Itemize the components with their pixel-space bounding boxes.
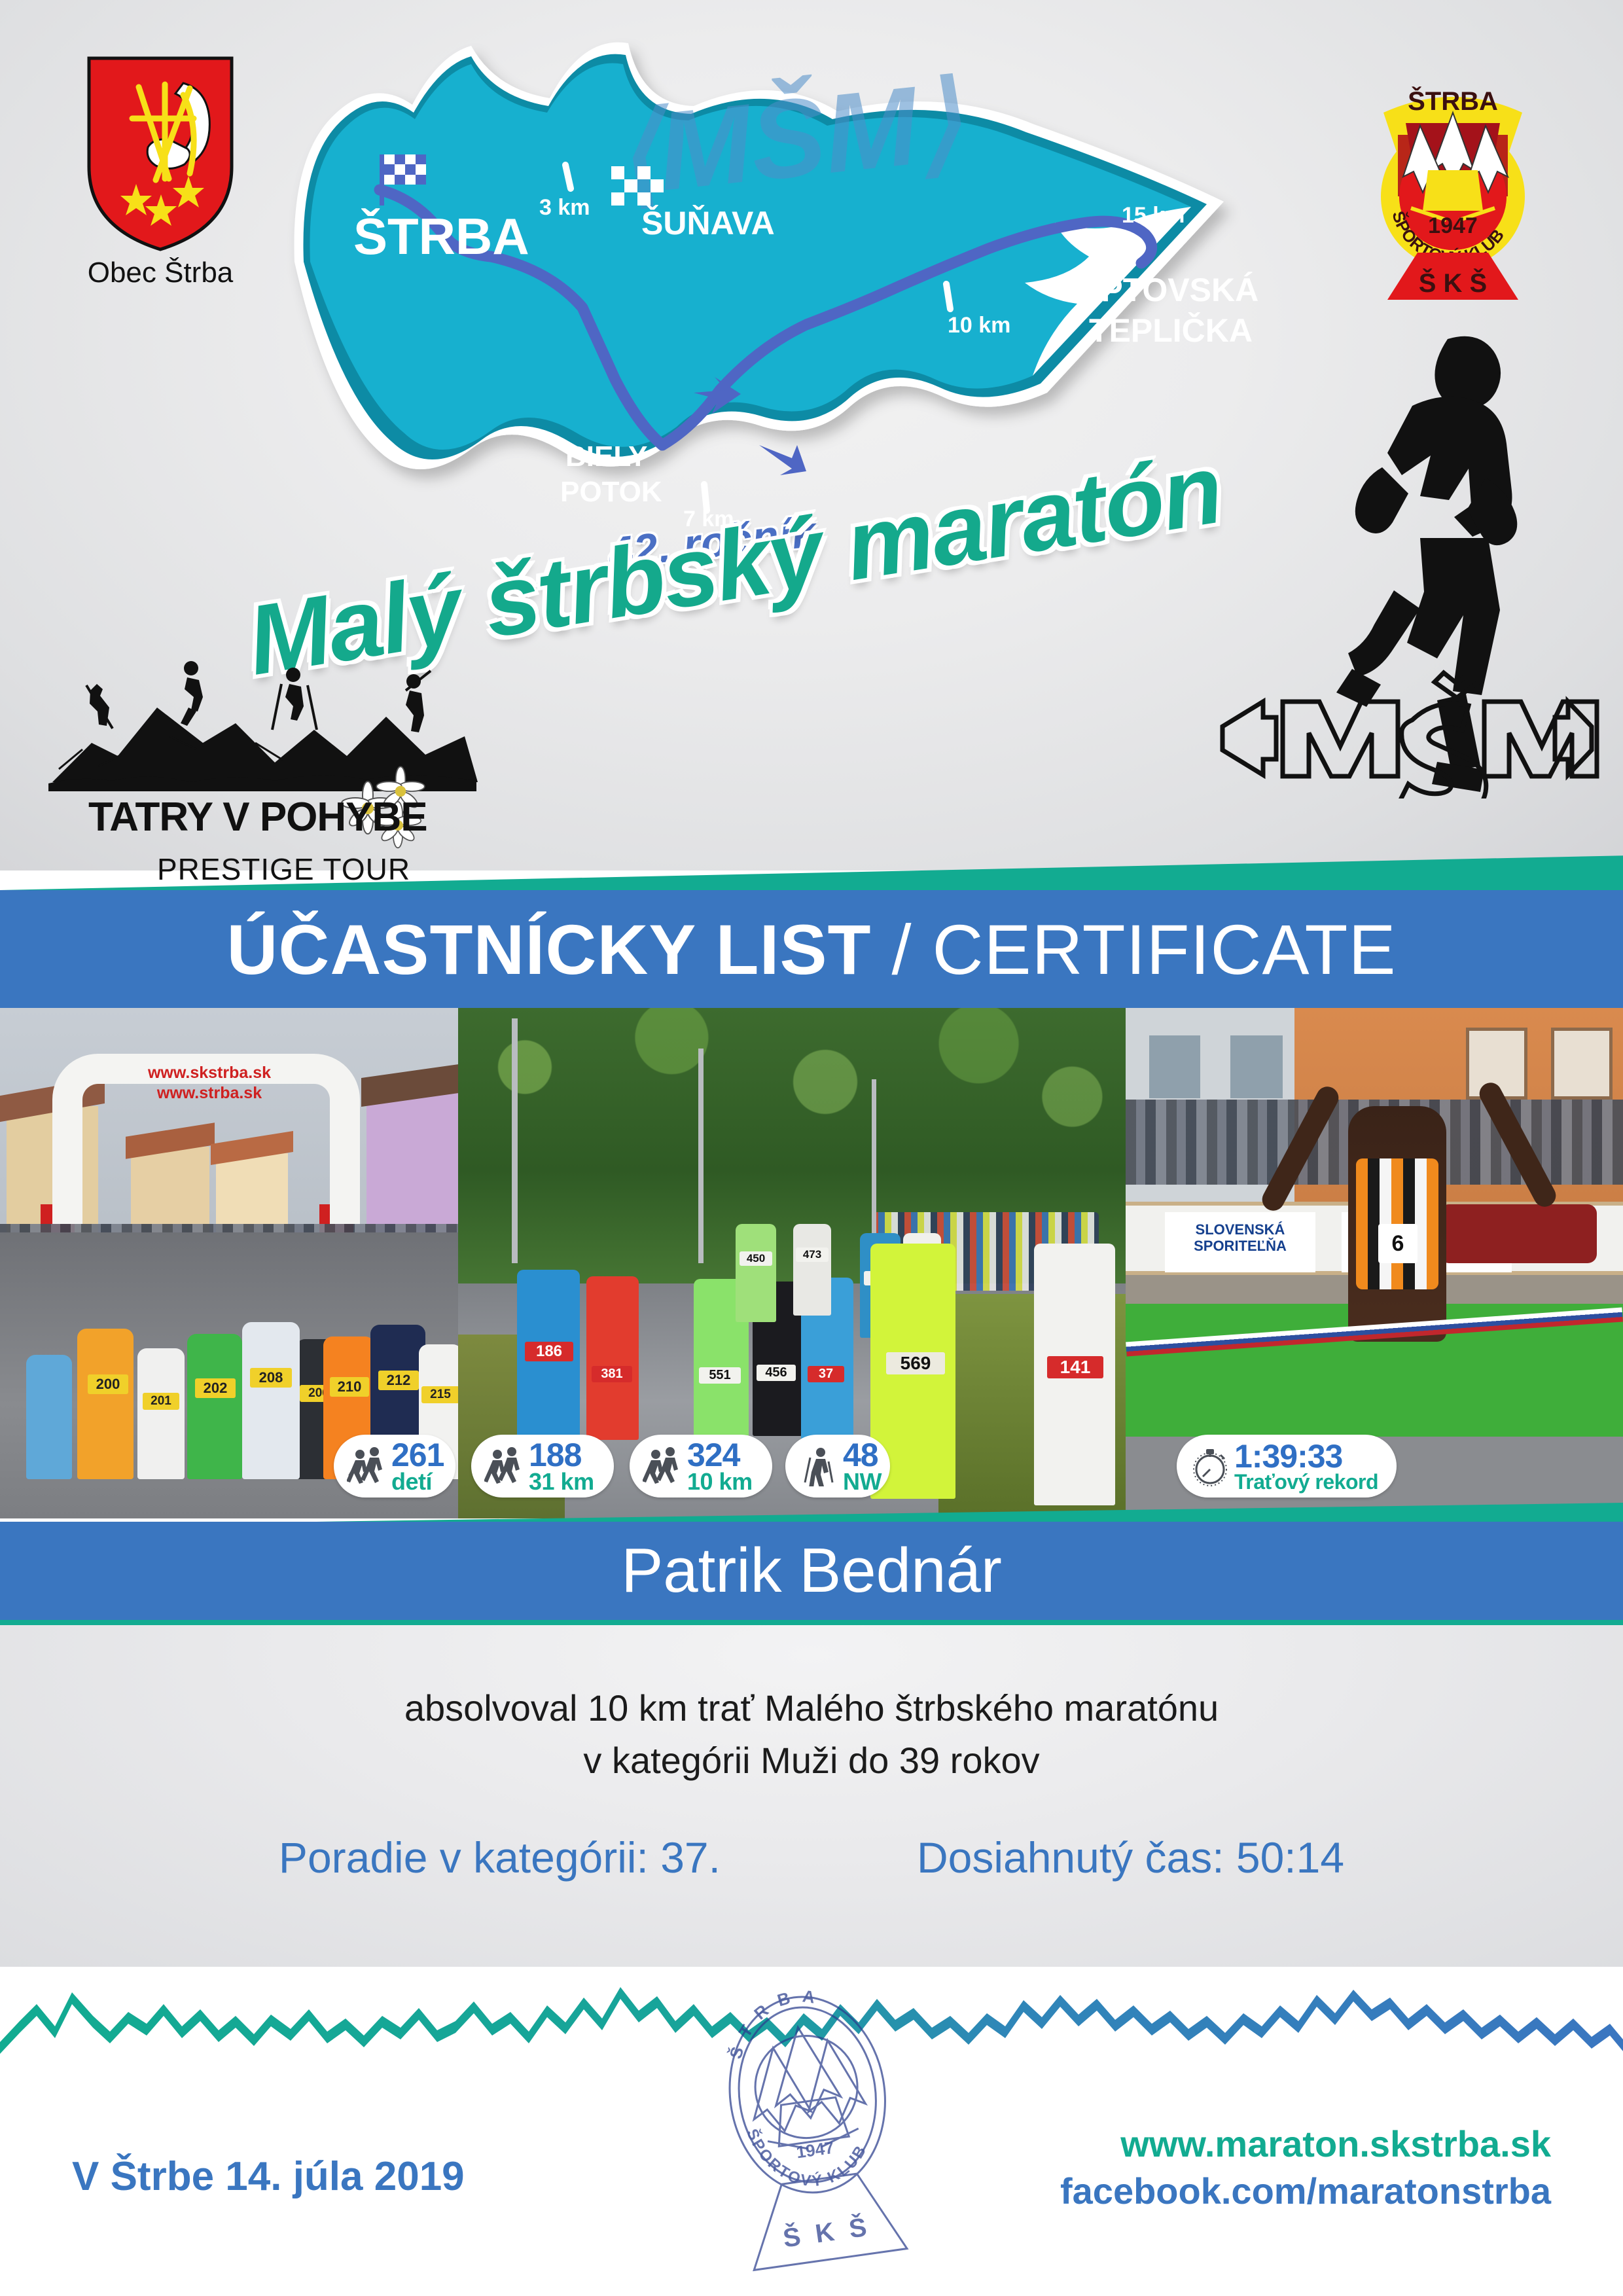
lamp-post — [698, 1049, 704, 1263]
teal-divider — [0, 1620, 1623, 1625]
category-rank: Poradie v kategórii: 37. — [279, 1833, 721, 1882]
participant-name: Patrik Bednár — [621, 1535, 1002, 1607]
bib-number: 212 — [378, 1371, 419, 1390]
bib-number: 6 — [1378, 1224, 1418, 1263]
stat-label: detí — [391, 1471, 444, 1494]
bib-number: 141 — [1047, 1356, 1103, 1378]
bib-number: 215 — [421, 1386, 458, 1403]
stat-badge-course-record: 1:39:33 Traťový rekord — [1177, 1435, 1397, 1498]
sks-club-logo: ŠTRBA — [1355, 72, 1551, 308]
lamp-post — [512, 1018, 518, 1263]
nordic-walking-icon — [798, 1446, 839, 1486]
description-line-2: v kategórii Muži do 39 rokov — [0, 1734, 1623, 1787]
stat-label: NW — [843, 1471, 882, 1494]
runner-figure — [736, 1224, 776, 1322]
bib-number: 201 — [143, 1393, 179, 1410]
stat-label: Traťový rekord — [1234, 1472, 1378, 1492]
runner-figure — [793, 1224, 831, 1316]
house — [366, 1093, 458, 1244]
obec-strba-coat-of-arms — [85, 56, 236, 252]
certificate-description: absolvoval 10 km trať Malého štrbského m… — [0, 1682, 1623, 1786]
children-running-icon — [347, 1446, 387, 1486]
bib-number: 381 — [592, 1366, 632, 1382]
footer-links: www.maraton.skstrba.sk facebook.com/mara… — [1060, 2121, 1551, 2214]
finish-time: Dosiahnutý čas: 50:14 — [917, 1833, 1344, 1882]
sks-logo-bottom-text: Š K Š — [1419, 268, 1487, 298]
certificate-title-band: ÚČASTNÍCKY LIST / CERTIFICATE — [0, 890, 1623, 1008]
stamp-bottom-text: Š K Š — [781, 2211, 872, 2253]
map-marker-10km: 10 km — [948, 313, 1010, 338]
stat-badge-10km: 324 10 km — [630, 1435, 772, 1498]
footer-website-link[interactable]: www.maraton.skstrba.sk — [1060, 2121, 1551, 2168]
stat-value: 261 — [391, 1439, 444, 1471]
certificate-page: Obec Štrba ⟨MŠM⟩ — [0, 0, 1623, 2296]
sks-logo-year: 1947 — [1428, 213, 1478, 238]
arch-url-text: www.skstrba.sk www.strba.sk — [98, 1063, 321, 1104]
stat-badge-children: 261 detí — [334, 1435, 455, 1498]
certificate-title-sk: ÚČASTNÍCKY LIST — [226, 910, 871, 989]
stat-value: 188 — [529, 1439, 594, 1471]
runners-icon — [643, 1446, 683, 1486]
tatry-v-pohybe-name: TATRY V POHYBE — [88, 794, 427, 840]
certificate-title: ÚČASTNÍCKY LIST / CERTIFICATE — [226, 908, 1396, 990]
footer-facebook-link[interactable]: facebook.com/maratonstrba — [1060, 2168, 1551, 2215]
sks-stamp-watermark: Š T R B A ŠPORTOVÝ KLUB 1947 Š K Š — [700, 1970, 923, 2278]
bib-number: 456 — [757, 1365, 796, 1381]
window — [1551, 1028, 1613, 1100]
bib-number: 200 — [88, 1374, 128, 1394]
stat-label: 31 km — [529, 1471, 594, 1494]
description-line-1: absolvoval 10 km trať Malého štrbského m… — [0, 1682, 1623, 1734]
bib-number: 551 — [699, 1367, 741, 1384]
map-label-strba: ŠTRBA — [353, 207, 529, 265]
bib-number: 37 — [808, 1366, 844, 1382]
stat-badge-31km: 188 31 km — [471, 1435, 614, 1498]
stopwatch-icon — [1190, 1446, 1230, 1486]
bib-number: 202 — [195, 1378, 236, 1398]
map-label-biely: BIELY — [565, 440, 648, 473]
stat-value: 324 — [687, 1439, 753, 1471]
bib-number: 473 — [796, 1247, 829, 1262]
map-label-sunava: ŠUŇAVA — [641, 204, 775, 242]
runners-icon — [484, 1446, 525, 1486]
bib-number: 450 — [740, 1251, 772, 1266]
tatry-v-pohybe-logo: TATRY V POHYBE PRESTIGE TOUR 2019 — [39, 645, 484, 861]
hero-section: Obec Štrba ⟨MŠM⟩ — [0, 0, 1623, 870]
certificate-title-en: CERTIFICATE — [933, 910, 1397, 989]
bib-number: 210 — [330, 1377, 369, 1397]
stat-label: 10 km — [687, 1471, 753, 1494]
window — [1149, 1035, 1200, 1098]
msm-runner-logo — [1204, 327, 1610, 798]
sponsor-banner-slovenska-sporitelna: SLOVENSKÁ SPORITEĽŇA — [1165, 1212, 1315, 1272]
runner-figure — [586, 1276, 639, 1440]
arch-url-line1: www.skstrba.sk — [98, 1063, 321, 1083]
parked-car — [1440, 1204, 1597, 1263]
arch-url-line2: www.strba.sk — [98, 1083, 321, 1103]
bib-number: 208 — [250, 1368, 292, 1388]
certificate-body — [0, 1620, 1623, 1967]
stamp-year: 1947 — [795, 2138, 835, 2162]
bib-number: 186 — [525, 1342, 573, 1361]
map-marker-15km: 15 km — [1122, 203, 1185, 228]
footer-place-date: V Štrbe 14. júla 2019 — [72, 2153, 465, 2200]
certificate-title-separator: / — [871, 910, 932, 989]
obec-strba-label: Obec Štrba — [39, 257, 281, 289]
map-label-potok: POTOK — [560, 476, 662, 508]
stats-badges: 261 detí 188 31 km — [0, 1435, 1623, 1507]
stat-badge-nordic-walking: 48 NW — [785, 1435, 890, 1498]
bib-number: 569 — [886, 1352, 945, 1374]
stat-value: 1:39:33 — [1234, 1441, 1378, 1472]
participant-name-band: Patrik Bednár — [0, 1522, 1623, 1620]
map-label-liptovska: LIPTOVSKÁ — [1072, 272, 1258, 308]
stat-value: 48 — [843, 1439, 882, 1471]
map-marker-3km: 3 km — [539, 195, 590, 220]
certificate-results: Poradie v kategórii: 37. Dosiahnutý čas:… — [0, 1833, 1623, 1882]
window — [1230, 1035, 1283, 1098]
